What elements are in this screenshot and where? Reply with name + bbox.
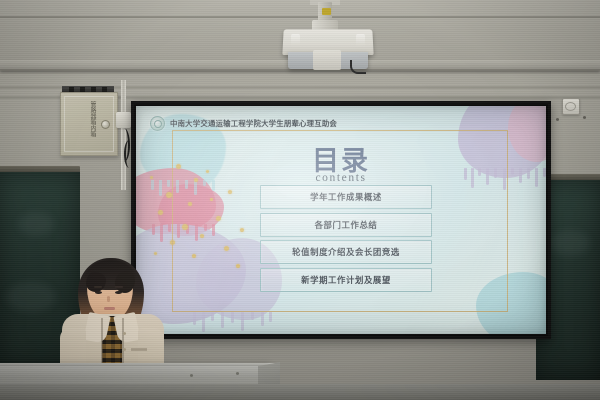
- agenda-item[interactable]: 轮值制度介绍及会长团竞选: [260, 240, 432, 264]
- ceiling-seam: [0, 69, 600, 71]
- wall-box-lock-icon[interactable]: [101, 120, 110, 129]
- eye: [95, 291, 102, 294]
- wall-screw: [556, 118, 559, 121]
- agenda-item[interactable]: 学年工作成果概述: [260, 185, 432, 209]
- slide-title-english: contents: [136, 172, 546, 184]
- projector-vent: [291, 34, 300, 48]
- projector-lens: [313, 50, 341, 70]
- nose: [107, 296, 110, 302]
- agenda-item-label: 轮值制度介绍及会长团竞选: [292, 246, 400, 258]
- conduit-junction-box: [116, 112, 131, 128]
- organization-logo-icon: [150, 116, 165, 131]
- jacket-pocket: [131, 348, 147, 351]
- desk-base: [0, 384, 600, 400]
- agenda-item-label: 新学期工作计划及展望: [301, 274, 391, 286]
- wall-box-panel[interactable]: 管路器箱内箱: [60, 92, 118, 156]
- podium-screw: [190, 374, 193, 377]
- agenda-item-label: 学年工作成果概述: [310, 191, 382, 203]
- wall-box-label: 管路器箱内箱: [83, 101, 95, 137]
- jacket-button: [123, 332, 126, 335]
- agenda-item[interactable]: 各部门工作总结: [260, 213, 432, 237]
- eye: [115, 291, 122, 294]
- projection-screen-frame: 中南大学交通运输工程学院大学生朋辈心理互助会 目录 contents 学年工作成…: [131, 101, 551, 339]
- agenda-item[interactable]: 新学期工作计划及展望: [260, 268, 432, 292]
- mouth: [104, 307, 115, 310]
- projector-vent: [356, 34, 365, 48]
- socket-hole-icon: [565, 102, 576, 111]
- slide-header: 中南大学交通运输工程学院大学生朋辈心理互助会: [150, 116, 337, 131]
- projector-cable: [350, 60, 366, 74]
- slide-title-block: 目录 contents: [136, 148, 546, 184]
- jacket-button: [123, 348, 126, 351]
- slide-title-chinese: 目录: [136, 148, 546, 175]
- projector-indicator-icon: [322, 8, 331, 15]
- projection-screen[interactable]: 中南大学交通运输工程学院大学生朋辈心理互助会 目录 contents 学年工作成…: [136, 106, 546, 334]
- gold-dot: [158, 210, 163, 215]
- classroom-scene: 管路器箱内箱: [0, 0, 600, 400]
- organization-name: 中南大学交通运输工程学院大学生朋辈心理互助会: [170, 118, 337, 129]
- agenda-item-label: 各部门工作总结: [315, 219, 378, 231]
- presentation-slide: 中南大学交通运输工程学院大学生朋辈心理互助会 目录 contents 学年工作成…: [136, 106, 546, 334]
- wall-screw: [583, 116, 586, 119]
- eyebrow: [94, 286, 102, 288]
- ceiling-seam: [0, 16, 600, 18]
- agenda-list: 学年工作成果概述 各部门工作总结 轮值制度介绍及会长团竞选 新学期工作计划及展望: [260, 185, 432, 295]
- eyebrow: [115, 286, 123, 288]
- podium-screw: [236, 372, 239, 375]
